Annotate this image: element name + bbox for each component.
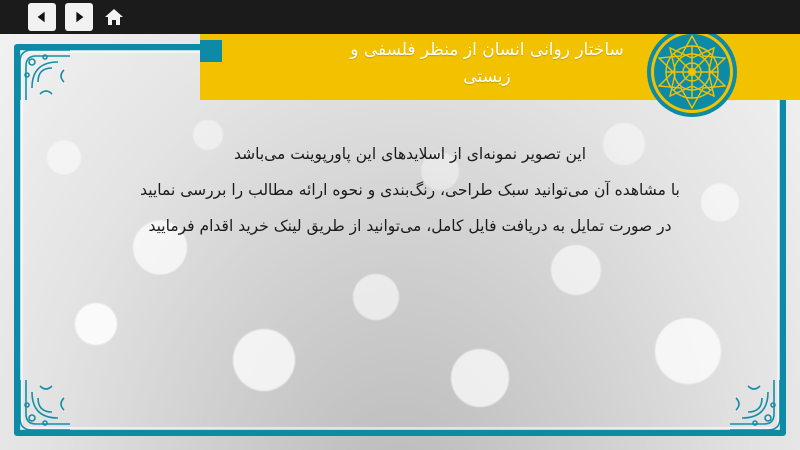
viewer-navigation-bar	[0, 0, 800, 34]
body-line-1: این تصویر نمونه‌ای از اسلایدهای این پاور…	[60, 136, 760, 172]
home-button[interactable]	[100, 3, 128, 31]
islamic-star-medallion-icon	[646, 26, 738, 118]
title-banner-tab	[200, 40, 222, 62]
next-slide-button[interactable]	[65, 3, 93, 31]
corner-ornament-top-left-icon	[18, 48, 72, 102]
corner-ornament-bottom-left-icon	[18, 378, 72, 432]
previous-slide-button[interactable]	[28, 3, 56, 31]
slide-body-text: این تصویر نمونه‌ای از اسلایدهای این پاور…	[60, 136, 760, 244]
slide-canvas: کامل بررسی پیوند میان شادی و ساختار روان…	[0, 0, 800, 450]
corner-ornament-bottom-right-icon	[728, 378, 782, 432]
triangle-left-icon	[35, 10, 49, 24]
triangle-right-icon	[72, 10, 86, 24]
home-icon	[104, 7, 124, 27]
body-line-3: در صورت تمایل به دریافت فایل کامل، می‌تو…	[60, 208, 760, 244]
body-line-2: با مشاهده آن می‌توانید سبک طراحی، رنگ‌بن…	[60, 172, 760, 208]
